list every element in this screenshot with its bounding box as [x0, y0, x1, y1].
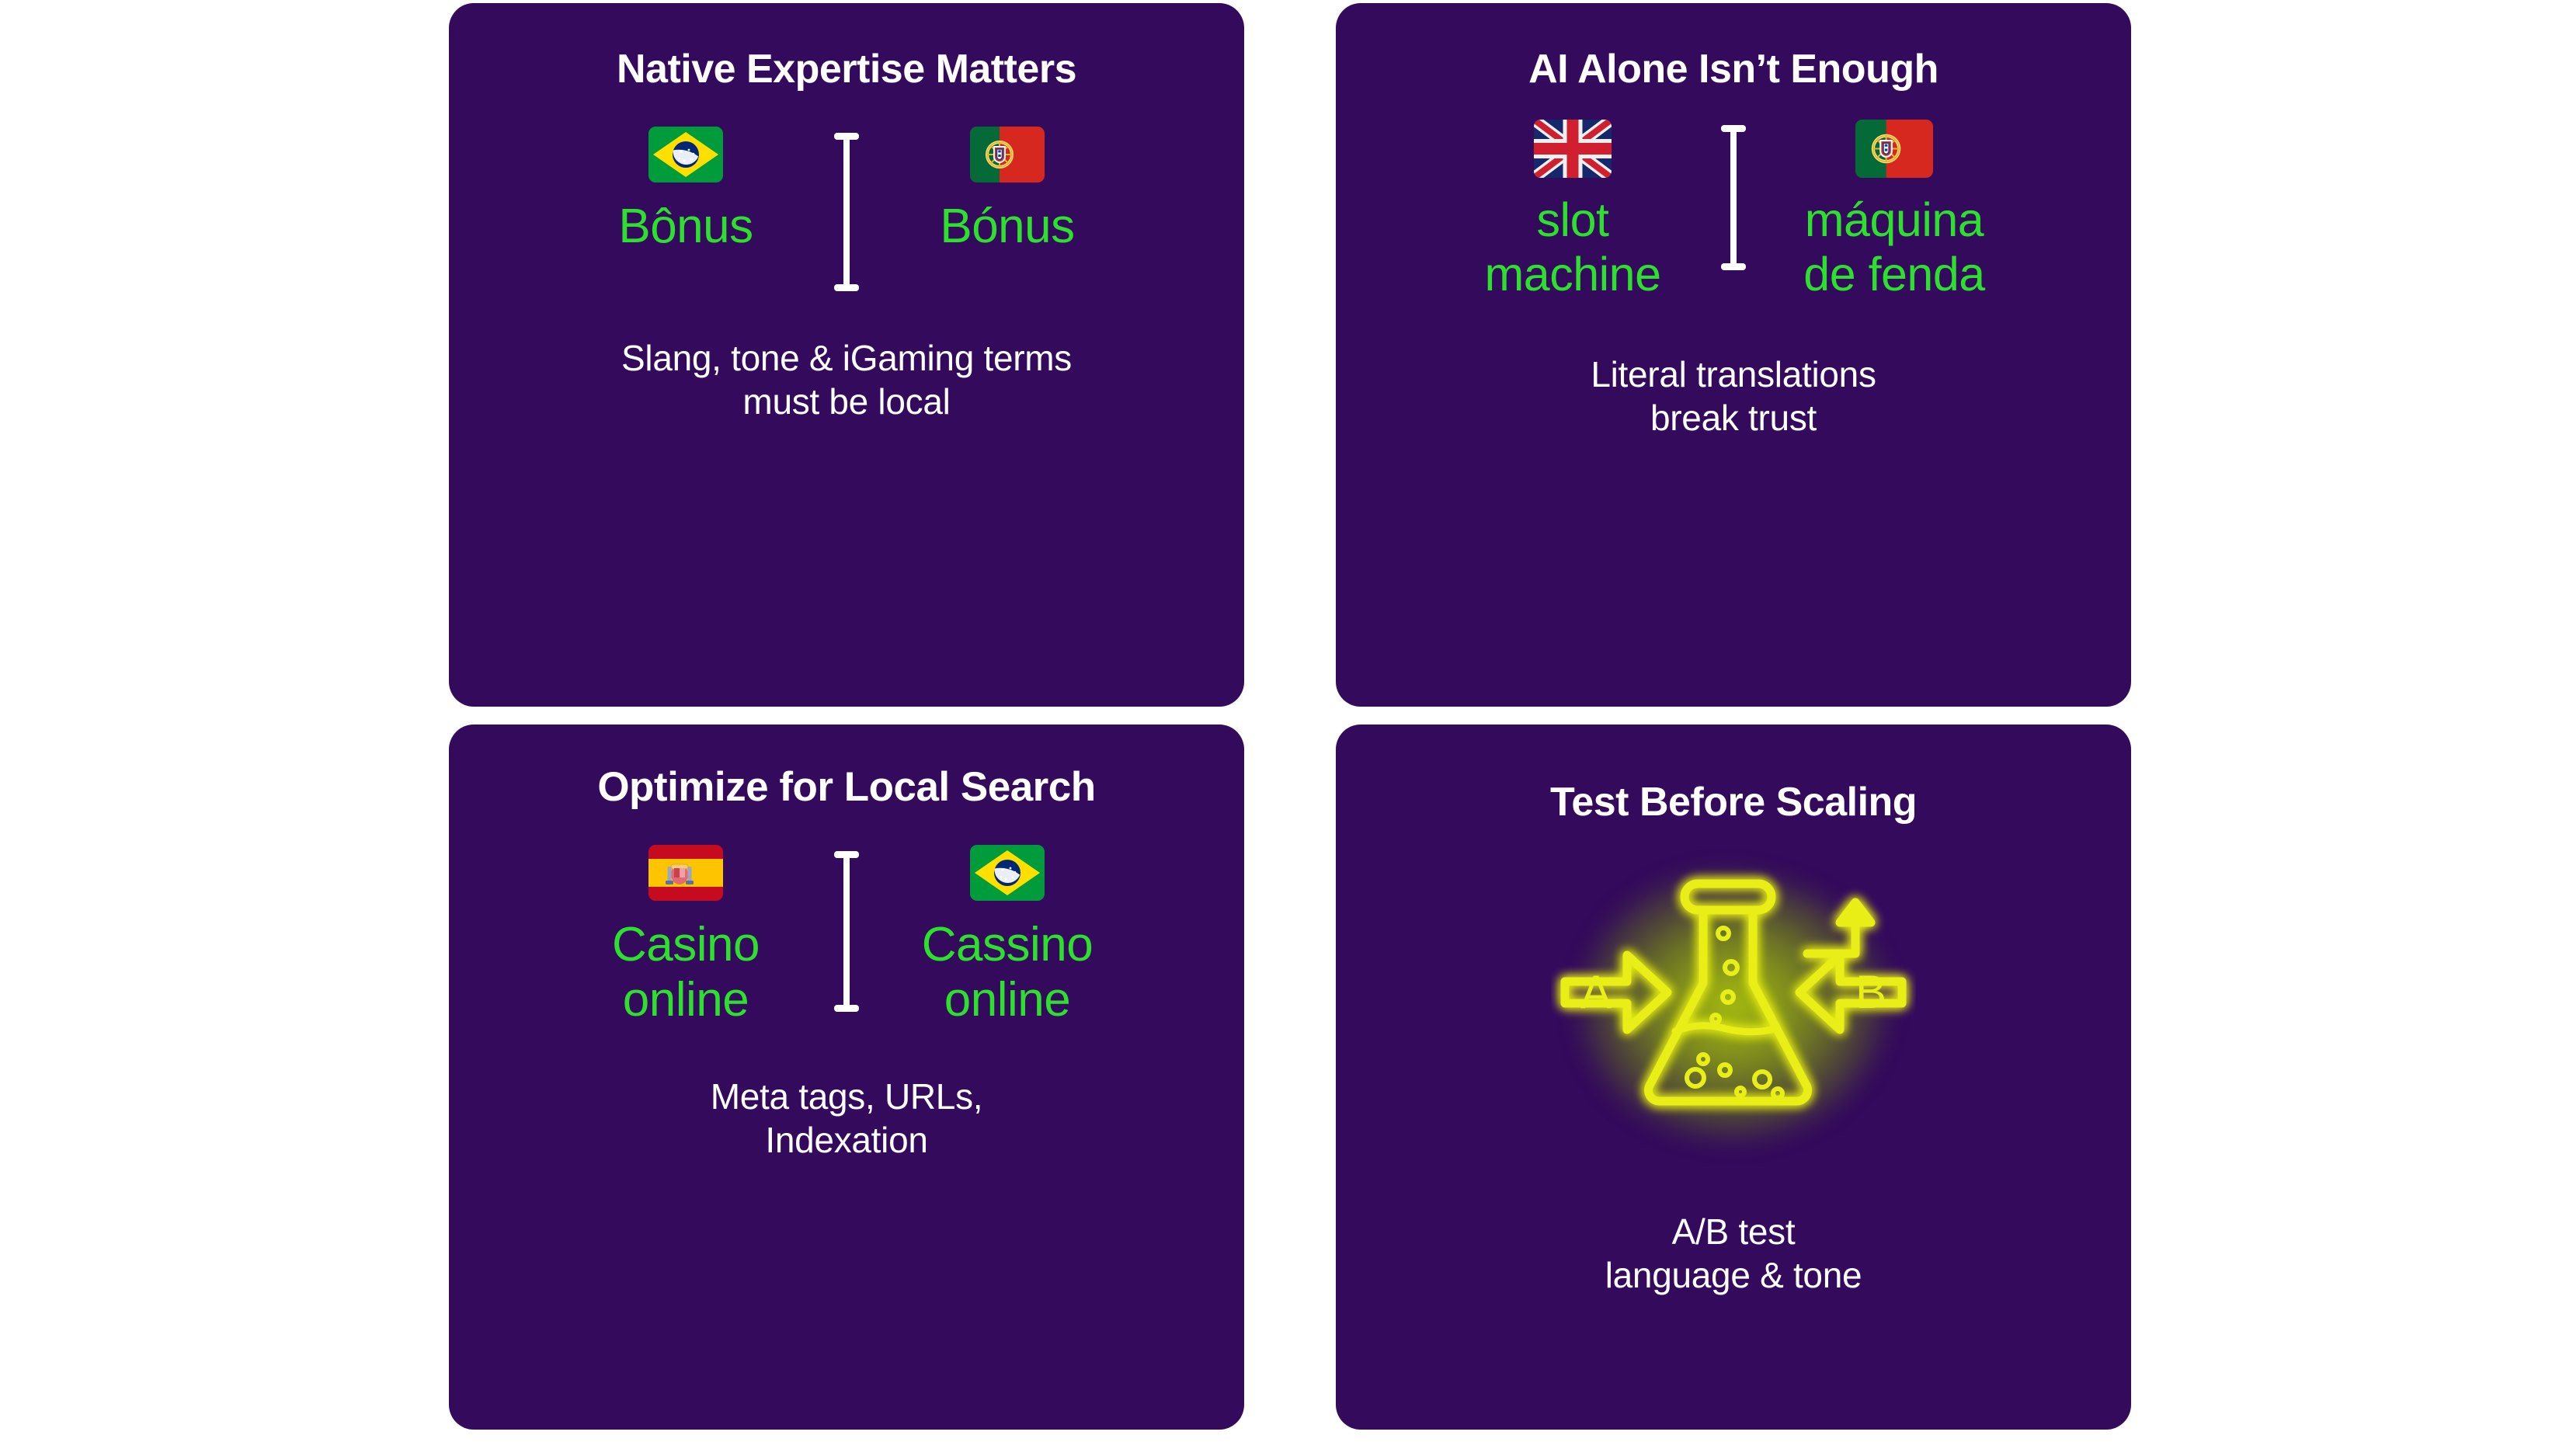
card-ai-alone-isnt-enough: AI Alone Isn’t Enough slot machine — [1336, 3, 2131, 707]
comparison-column-left: Bônus — [538, 127, 833, 255]
card-caption: Literal translations break trust — [1591, 353, 1876, 440]
card-title: AI Alone Isn’t Enough — [1528, 47, 1938, 92]
divider-stem — [843, 858, 850, 1005]
comparison-divider — [833, 851, 860, 1012]
card-caption: Meta tags, URLs, Indexation — [711, 1075, 983, 1162]
term-comparison: Casino online — [449, 845, 1244, 1027]
card-caption: Slang, tone & iGaming terms must be loca… — [621, 336, 1072, 423]
card-caption: A/B test language & tone — [1605, 1210, 1862, 1297]
card-test-before-scaling: Test Before Scaling — [1336, 725, 2131, 1430]
card-title: Test Before Scaling — [1550, 780, 1917, 825]
card-native-expertise-matters: Native Expertise Matters Bônus — [449, 3, 1244, 707]
card-title: Optimize for Local Search — [597, 765, 1095, 810]
term-left: Casino online — [612, 918, 760, 1027]
comparison-divider — [833, 133, 860, 291]
divider-stem — [1730, 132, 1737, 263]
comparison-divider — [1720, 125, 1747, 270]
divider-cap-top — [1721, 125, 1746, 132]
variant-a-label: A — [1580, 966, 1612, 1018]
comparison-column-right: máquina de fenda — [1747, 120, 2042, 301]
card-optimize-for-local-search: Optimize for Local Search — [449, 725, 1244, 1430]
divider-stem — [843, 140, 850, 284]
divider-cap-bottom — [834, 284, 859, 291]
flask-graphic: A B — [1551, 859, 1916, 1154]
term-comparison: slot machine — [1336, 120, 2131, 301]
term-comparison: Bônus — [449, 127, 1244, 291]
comparison-card-grid: Native Expertise Matters Bônus — [0, 0, 2573, 1456]
divider-cap-top — [834, 851, 859, 858]
divider-cap-top — [834, 133, 859, 140]
variant-b-label: B — [1855, 966, 1886, 1018]
term-right: máquina de fenda — [1803, 193, 1984, 301]
comparison-column-left: slot machine — [1425, 120, 1720, 301]
term-left: Bônus — [618, 200, 753, 255]
spain-flag-icon — [648, 845, 723, 901]
comparison-column-right: Cassino online — [860, 845, 1155, 1027]
term-left: slot machine — [1484, 193, 1660, 301]
brazil-flag-icon — [970, 845, 1045, 901]
divider-cap-bottom — [1721, 263, 1746, 270]
ab-test-flask-icon: A B — [1532, 843, 1935, 1169]
comparison-column-left: Casino online — [538, 845, 833, 1027]
term-right: Cassino online — [922, 918, 1094, 1027]
divider-cap-bottom — [834, 1005, 859, 1012]
comparison-column-right: Bónus — [860, 127, 1155, 255]
term-right: Bónus — [940, 200, 1074, 255]
portugal-flag-icon — [970, 127, 1045, 182]
card-title: Native Expertise Matters — [617, 47, 1076, 92]
united-kingdom-flag-icon — [1534, 120, 1612, 178]
brazil-flag-icon — [648, 127, 723, 182]
portugal-flag-icon — [1855, 120, 1933, 178]
